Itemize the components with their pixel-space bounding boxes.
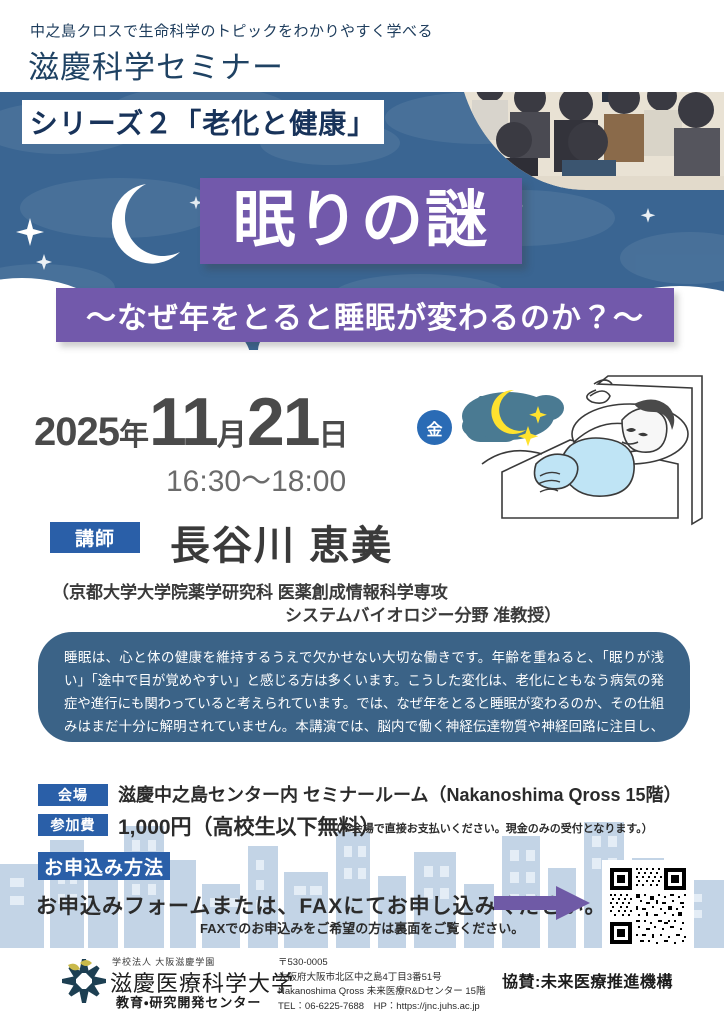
event-date: 2025 年 11 月 21 日	[34, 388, 349, 456]
venue-badge: 会場	[38, 784, 108, 806]
description-text: 睡眠は、心と体の健康を維持するうえで欠かせない大切な働きです。年齢を重ねると、「…	[64, 646, 664, 761]
main-title: 眠りの謎	[233, 190, 489, 252]
seminar-poster: 中之島クロスで生命科学のトピックをわかりやすく学べる 滋慶科学セミナー	[0, 0, 724, 1024]
sub-title-box: 〜なぜ年をとると睡眠が変わるのか？〜	[56, 288, 674, 342]
page-title: 滋慶科学セミナー	[28, 42, 284, 87]
contact-line: TEL：06-6225-7688 HP：https://jnc.juhs.ac.…	[278, 1000, 485, 1015]
postal-code: 〒530-0005	[278, 956, 485, 971]
contact-address: 〒530-0005 大阪府大阪市北区中之島4丁目3番51号 Nakanoshim…	[278, 956, 485, 1015]
series-label-box: シリーズ２「老化と健康」	[22, 100, 384, 144]
speaker-affiliation-line2: システムバイオロジー分野 准教授）	[285, 601, 561, 626]
event-year: 2025	[34, 410, 119, 455]
speaker-badge: 講師	[50, 522, 140, 553]
sleeping-person-illustration	[462, 368, 724, 528]
day-of-week-badge: 金	[417, 410, 452, 445]
event-time: 16:30〜18:00	[166, 456, 346, 500]
university-logo-icon	[60, 957, 108, 1005]
header-subtitle: 中之島クロスで生命科学のトピックをわかりやすく学べる	[30, 20, 433, 41]
main-title-box: 眠りの謎	[200, 178, 522, 264]
fee-note: （※会場で直接お支払いください。現金のみの受付となります。）	[330, 820, 653, 836]
org-center: 教育・研究開発センター	[116, 992, 261, 1011]
arrow-right-icon	[494, 886, 590, 920]
sub-title: 〜なぜ年をとると睡眠が変わるのか？〜	[86, 293, 644, 337]
poster-header: 中之島クロスで生命科学のトピックをわかりやすく学べる 滋慶科学セミナー	[0, 0, 724, 92]
apply-badge: お申込み方法	[38, 852, 170, 880]
address-line1: 大阪府大阪市北区中之島4丁目3番51号	[278, 971, 485, 986]
event-day-unit: 日	[319, 410, 349, 454]
apply-note: FAXでのお申込みをご希望の方は裏面をご覧ください。	[200, 918, 524, 937]
event-month: 11	[149, 388, 217, 456]
qr-code-graphic[interactable]	[606, 864, 690, 948]
description-box: 睡眠は、心と体の健康を維持するうえで欠かせない大切な働きです。年齢を重ねると、「…	[38, 632, 690, 742]
event-year-unit: 年	[119, 410, 149, 454]
series-label: シリーズ２「老化と健康」	[30, 102, 377, 142]
sponsor-text: 協賛:未来医療推進機構	[502, 968, 673, 992]
qr-code[interactable]	[602, 860, 694, 952]
speaker-affiliation-line1: （京都大学大学院薬学研究科 医薬創成情報科学専攻	[52, 578, 448, 603]
speaker-name-suffix: 氏	[359, 527, 382, 561]
event-month-unit: 月	[217, 410, 247, 454]
event-day: 21	[247, 388, 319, 456]
sleepless-night-icon	[462, 368, 724, 528]
address-line2: Nakanoshima Qross 未来医療R&Dセンター 15階	[278, 985, 485, 1000]
night-cloud-icon	[462, 390, 564, 446]
venue-text: 滋慶中之島センター内 セミナールーム（Nakanoshima Qross 15階…	[118, 781, 682, 807]
fee-badge: 参加費	[38, 814, 108, 836]
